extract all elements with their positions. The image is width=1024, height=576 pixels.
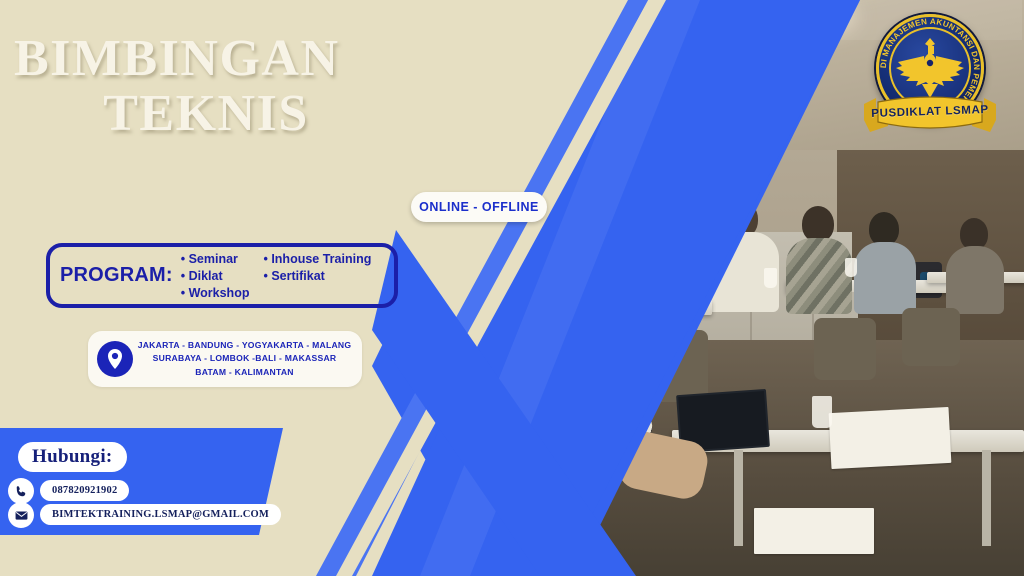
program-box: PROGRAM: Seminar Diklat Workshop Inhouse… <box>46 243 398 308</box>
locations-lines: JAKARTA - BANDUNG - YOGYAKARTA - MALANG … <box>133 339 362 379</box>
headline-line-1: BIMBINGAN <box>0 34 372 85</box>
mode-badge-label: ONLINE - OFFLINE <box>419 200 539 214</box>
phone-icon <box>8 478 34 504</box>
pusdiklat-lsmap-logo: LEMBAGA STUDI MANAJEMEN AKUNTANSI DAN PE… <box>862 8 998 148</box>
contact-heading: Hubungi: <box>18 442 127 472</box>
map-pin-icon <box>97 341 133 377</box>
program-column-2: Inhouse Training Sertifikat <box>263 251 371 301</box>
promotional-banner: LEMBAGA STUDI MANAJEMEN AKUNTANSI DAN PE… <box>0 0 1024 576</box>
program-item: Inhouse Training <box>263 251 371 267</box>
program-item: Workshop <box>181 285 250 301</box>
contact-phone: 087820921902 <box>40 480 129 501</box>
location-line: JAKARTA - BANDUNG - YOGYAKARTA - MALANG <box>133 339 356 352</box>
mode-badge: ONLINE - OFFLINE <box>411 192 547 222</box>
program-column-1: Seminar Diklat Workshop <box>181 251 250 301</box>
locations-box: JAKARTA - BANDUNG - YOGYAKARTA - MALANG … <box>88 331 362 387</box>
program-label: PROGRAM: <box>50 264 181 287</box>
program-columns: Seminar Diklat Workshop Inhouse Training… <box>181 251 372 301</box>
eagle-icon <box>892 32 968 102</box>
envelope-icon <box>8 502 34 528</box>
location-line: SURABAYA - LOMBOK -BALI - MAKASSAR <box>133 352 356 365</box>
program-item: Sertifikat <box>263 268 371 284</box>
location-line: BATAM - KALIMANTAN <box>133 366 356 379</box>
page-title: BIMBINGAN TEKNIS <box>0 34 372 140</box>
headline-line-2: TEKNIS <box>0 89 372 140</box>
program-item: Seminar <box>181 251 250 267</box>
program-item: Diklat <box>181 268 250 284</box>
contact-email: BIMTEKTRAINING.LSMAP@GMAIL.COM <box>40 504 281 525</box>
